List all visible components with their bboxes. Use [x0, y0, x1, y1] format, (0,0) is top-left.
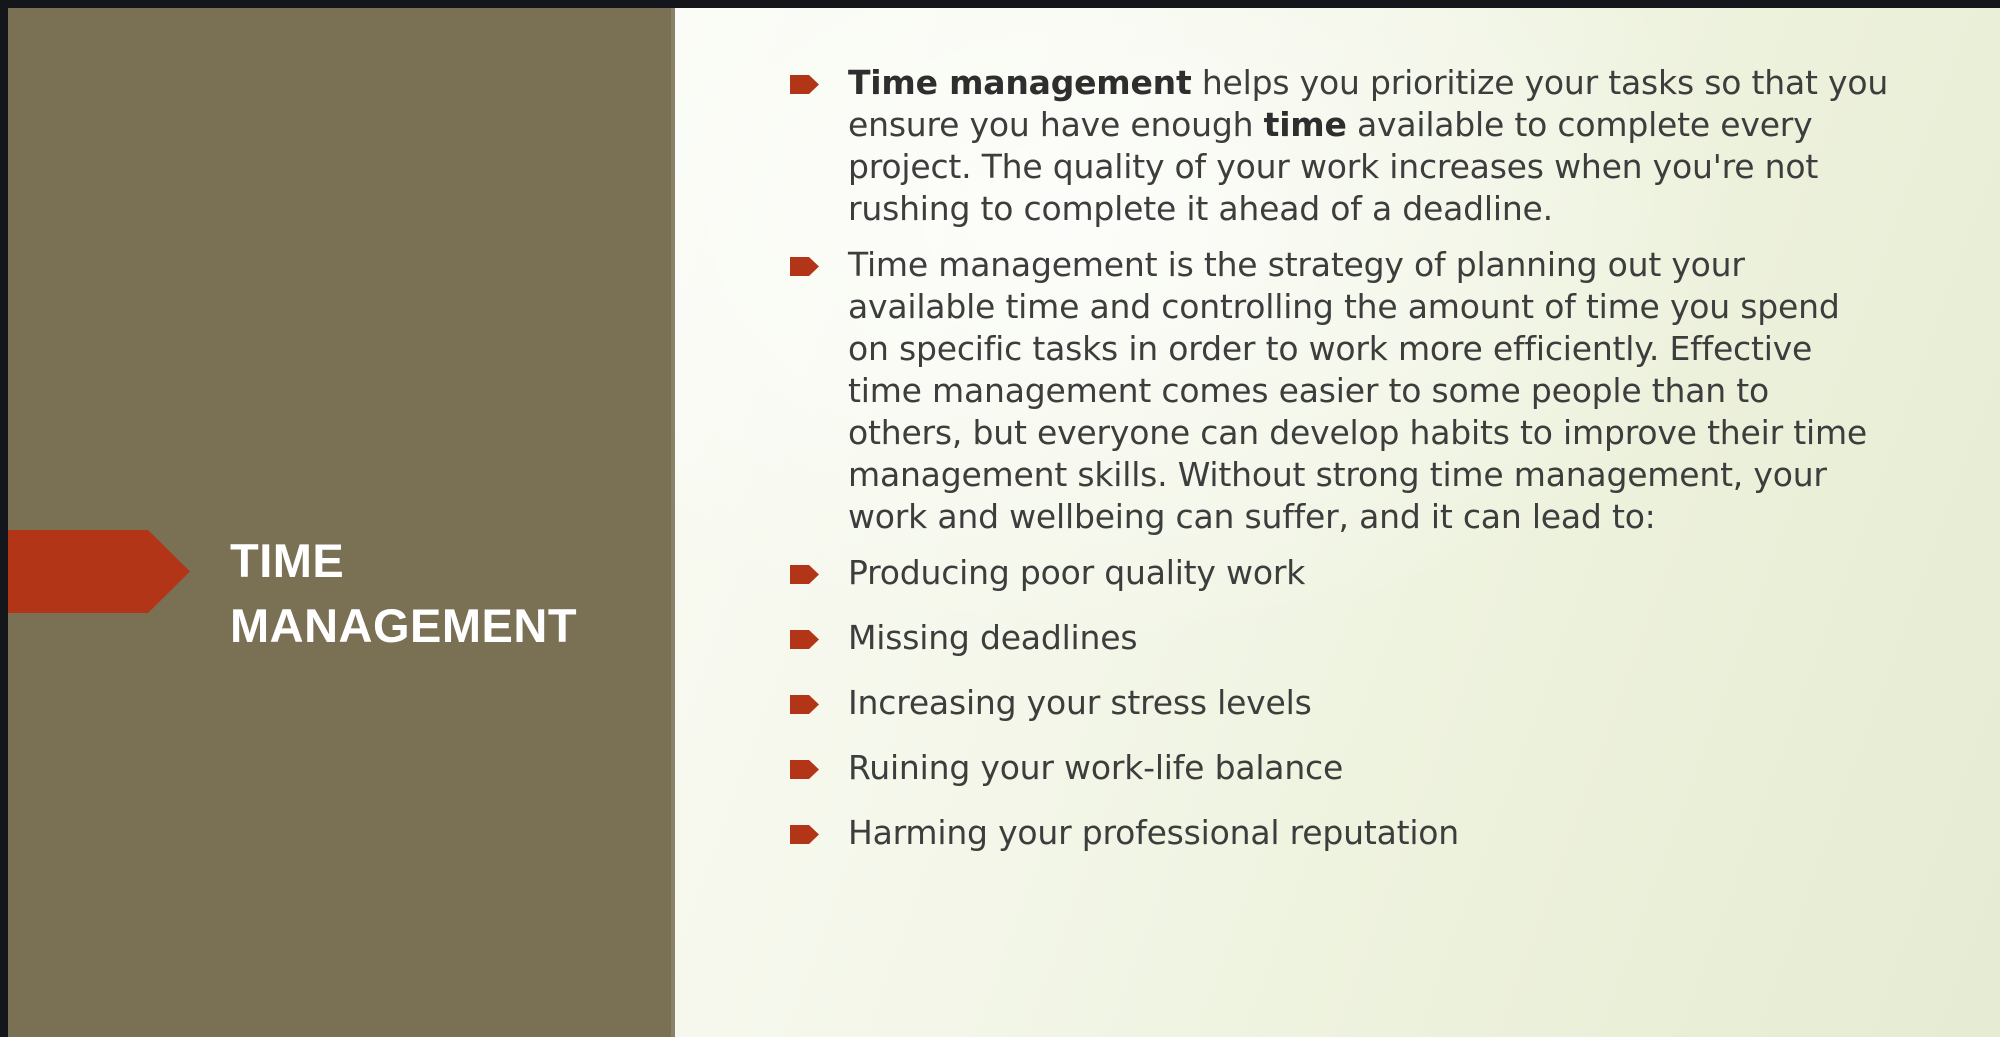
arrow-accent-icon — [8, 530, 190, 613]
list-item: Ruining your work-life balance — [790, 747, 1890, 789]
title-line-1: TIME — [230, 528, 660, 593]
list-item: Harming your professional reputation — [790, 812, 1890, 854]
title-line-2: MANAGEMENT — [230, 593, 660, 658]
arrow-pennant-icon — [790, 257, 819, 276]
list-item-text: Time management is the strategy of plann… — [848, 244, 1890, 538]
list-item: Producing poor quality work — [790, 552, 1890, 594]
arrow-pennant-icon — [790, 760, 819, 779]
list-item-text: Ruining your work-life balance — [848, 747, 1890, 789]
arrow-pennant-icon — [790, 630, 819, 649]
list-item: Missing deadlines — [790, 617, 1890, 659]
frame-top-strip — [0, 0, 2000, 8]
title-panel-edge — [671, 8, 675, 1037]
list-item: Time management helps you prioritize you… — [790, 62, 1890, 230]
frame-left-strip — [0, 0, 8, 1037]
list-item-text: Harming your professional reputation — [848, 812, 1890, 854]
arrow-pennant-icon — [790, 565, 819, 584]
arrow-pennant-icon — [790, 695, 819, 714]
bullet-list: Time management helps you prioritize you… — [790, 62, 1890, 877]
list-item-text: Increasing your stress levels — [848, 682, 1890, 724]
title-panel — [8, 8, 675, 1037]
list-item: Time management is the strategy of plann… — [790, 244, 1890, 538]
list-item-text: Time management helps you prioritize you… — [848, 62, 1890, 230]
presentation-slide: TIME MANAGEMENT Time management helps yo… — [0, 0, 2000, 1037]
arrow-pennant-icon — [790, 825, 819, 844]
arrow-pennant-icon — [790, 75, 819, 94]
list-item: Increasing your stress levels — [790, 682, 1890, 724]
page-title: TIME MANAGEMENT — [230, 528, 660, 658]
list-item-text: Missing deadlines — [848, 617, 1890, 659]
list-item-text: Producing poor quality work — [848, 552, 1890, 594]
